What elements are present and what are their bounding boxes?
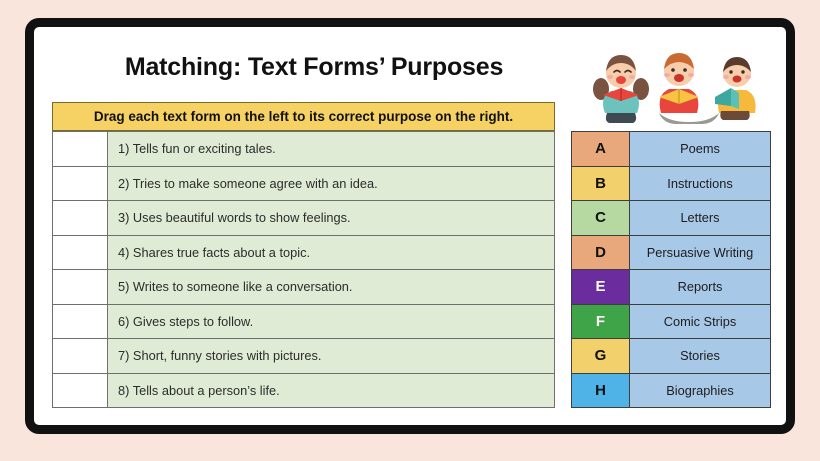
purpose-cell-1[interactable]: 1) Tells fun or exciting tales. [108, 132, 555, 167]
purpose-cell-2[interactable]: 2) Tries to make someone agree with an i… [108, 166, 555, 201]
letter-tile-d[interactable]: D [572, 235, 630, 270]
three-children-reading-icon [579, 39, 779, 127]
answer-bank-body: A Poems B Instructions C Letters D Persu… [572, 132, 771, 408]
purposes-table-body: 1) Tells fun or exciting tales. 2) Tries… [53, 132, 555, 408]
table-row: A Poems [572, 132, 771, 167]
letter-tile-a[interactable]: A [572, 132, 630, 167]
drop-box-8[interactable] [53, 373, 108, 408]
purpose-cell-7[interactable]: 7) Short, funny stories with pictures. [108, 339, 555, 374]
letter-tile-e[interactable]: E [572, 270, 630, 305]
purpose-cell-4[interactable]: 4) Shares true facts about a topic. [108, 235, 555, 270]
text-form-e[interactable]: Reports [630, 270, 771, 305]
text-form-d[interactable]: Persuasive Writing [630, 235, 771, 270]
purpose-cell-8[interactable]: 8) Tells about a person’s life. [108, 373, 555, 408]
answer-bank-table: A Poems B Instructions C Letters D Persu… [571, 131, 771, 408]
drop-box-5[interactable] [53, 270, 108, 305]
table-row: E Reports [572, 270, 771, 305]
purpose-cell-3[interactable]: 3) Uses beautiful words to show feelings… [108, 201, 555, 236]
worksheet-card: Matching: Text Forms’ Purposes [25, 18, 795, 434]
table-row: 5) Writes to someone like a conversation… [53, 270, 555, 305]
text-form-f[interactable]: Comic Strips [630, 304, 771, 339]
drop-box-4[interactable] [53, 235, 108, 270]
instruction-banner: Drag each text form on the left to its c… [52, 102, 555, 131]
table-row: 2) Tries to make someone agree with an i… [53, 166, 555, 201]
drop-box-7[interactable] [53, 339, 108, 374]
table-row: C Letters [572, 201, 771, 236]
letter-tile-c[interactable]: C [572, 201, 630, 236]
drop-box-3[interactable] [53, 201, 108, 236]
text-form-h[interactable]: Biographies [630, 373, 771, 408]
drop-box-6[interactable] [53, 304, 108, 339]
drop-box-1[interactable] [53, 132, 108, 167]
girl-with-pigtails-figure [593, 55, 649, 123]
text-form-b[interactable]: Instructions [630, 166, 771, 201]
table-row: B Instructions [572, 166, 771, 201]
purpose-cell-5[interactable]: 5) Writes to someone like a conversation… [108, 270, 555, 305]
text-form-c[interactable]: Letters [630, 201, 771, 236]
table-row: G Stories [572, 339, 771, 374]
table-row: 3) Uses beautiful words to show feelings… [53, 201, 555, 236]
letter-tile-h[interactable]: H [572, 373, 630, 408]
purpose-cell-6[interactable]: 6) Gives steps to follow. [108, 304, 555, 339]
drop-box-2[interactable] [53, 166, 108, 201]
purposes-table: 1) Tells fun or exciting tales. 2) Tries… [52, 131, 555, 408]
table-row: H Biographies [572, 373, 771, 408]
table-row: F Comic Strips [572, 304, 771, 339]
page-title: Matching: Text Forms’ Purposes [64, 53, 564, 82]
text-form-a[interactable]: Poems [630, 132, 771, 167]
letter-tile-b[interactable]: B [572, 166, 630, 201]
boy-center-figure [659, 53, 719, 124]
table-row: 1) Tells fun or exciting tales. [53, 132, 555, 167]
table-row: 6) Gives steps to follow. [53, 304, 555, 339]
table-row: 8) Tells about a person’s life. [53, 373, 555, 408]
table-row: 7) Short, funny stories with pictures. [53, 339, 555, 374]
letter-tile-g[interactable]: G [572, 339, 630, 374]
letter-tile-f[interactable]: F [572, 304, 630, 339]
girl-right-figure [715, 57, 756, 120]
table-row: D Persuasive Writing [572, 235, 771, 270]
text-form-g[interactable]: Stories [630, 339, 771, 374]
table-row: 4) Shares true facts about a topic. [53, 235, 555, 270]
